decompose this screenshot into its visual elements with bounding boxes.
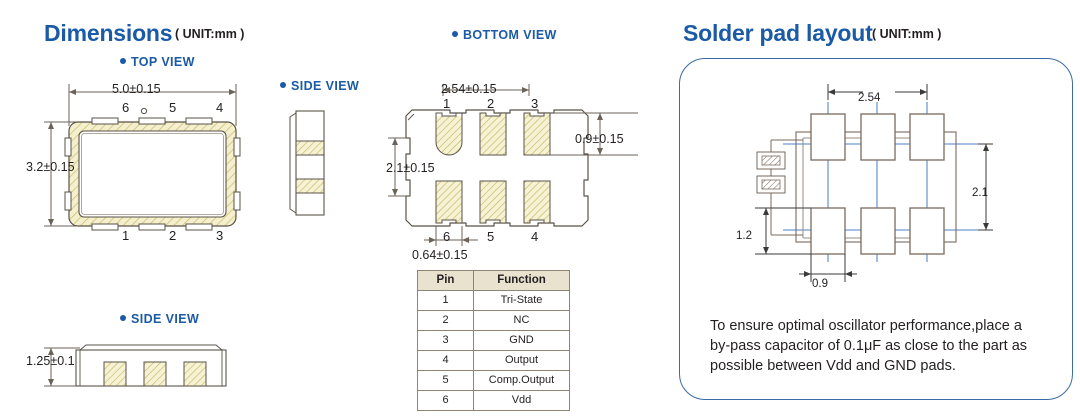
table-row: 6 Vdd <box>418 391 570 411</box>
bottom-view-pin-1: 1 <box>443 96 450 111</box>
table-row: 4 Output <box>418 351 570 371</box>
side-view-right-drawing <box>280 105 340 225</box>
solder-pad-title: Solder pad layout <box>683 20 873 47</box>
cell-function: NC <box>474 311 570 331</box>
table-row: 5 Comp.Output <box>418 371 570 391</box>
solder-span-v-dim: 2.1 <box>972 187 988 199</box>
table-header-row: Pin Function <box>418 271 570 291</box>
bottom-view-pad-width-dim: 0.64±0.15 <box>412 248 468 262</box>
cell-function: Comp.Output <box>474 371 570 391</box>
bottom-view-pin-6: 6 <box>443 229 450 244</box>
bottom-view-height-dim: 2.1±0.15 <box>386 161 435 175</box>
bullet-icon <box>120 315 126 321</box>
side-view-bottom-label: SIDE VIEW <box>120 312 199 326</box>
table-row: 3 GND <box>418 331 570 351</box>
bottom-view-pin-5: 5 <box>487 229 494 244</box>
bottom-view-pitch-dim: 2.54±0.15 <box>441 82 497 96</box>
bottom-view-pin-3: 3 <box>531 96 538 111</box>
bullet-icon <box>280 82 286 88</box>
solder-pad-unit: ( UNIT:mm ) <box>872 27 941 41</box>
side-view-bottom-drawing <box>24 336 274 406</box>
dimensions-unit: ( UNIT:mm ) <box>175 27 244 41</box>
header-pin: Pin <box>418 271 474 291</box>
solder-pad-h-dim: 1.2 <box>736 230 752 242</box>
cell-pin: 1 <box>418 291 474 311</box>
cell-pin: 2 <box>418 311 474 331</box>
cell-function: Vdd <box>474 391 570 411</box>
top-view-pin-4: 4 <box>216 100 223 115</box>
table-row: 2 NC <box>418 311 570 331</box>
side-view-right-label: SIDE VIEW <box>280 79 359 93</box>
solder-pitch-dim: 2.54 <box>858 92 880 104</box>
bottom-view-pin-4: 4 <box>531 229 538 244</box>
header-function: Function <box>474 271 570 291</box>
bullet-icon <box>452 31 458 37</box>
top-view-pin-2: 2 <box>169 228 176 243</box>
side-view-bottom-height-dim: 1.25±0.1 <box>26 354 75 368</box>
top-view-height-dim: 3.2±0.15 <box>26 160 75 174</box>
cell-function: Output <box>474 351 570 371</box>
table-row: 1 Tri-State <box>418 291 570 311</box>
bottom-view-label: BOTTOM VIEW <box>452 28 557 42</box>
cell-pin: 3 <box>418 331 474 351</box>
solder-pad-w-dim: 0.9 <box>812 278 828 290</box>
top-view-pin-5: 5 <box>169 100 176 115</box>
dimensions-title: Dimensions <box>44 20 172 47</box>
bottom-view-pad-height-dim: 0.9±0.15 <box>575 132 624 146</box>
cell-pin: 4 <box>418 351 474 371</box>
cell-pin: 5 <box>418 371 474 391</box>
top-view-width-dim: 5.0±0.15 <box>112 82 161 96</box>
bullet-icon <box>120 58 126 64</box>
solder-pad-note: To ensure optimal oscillator performance… <box>710 316 1040 376</box>
bottom-view-pin-2: 2 <box>487 96 494 111</box>
top-view-pin-3: 3 <box>216 228 223 243</box>
pin-function-table: Pin Function 1 Tri-State 2 NC 3 GND 4 Ou… <box>417 270 570 411</box>
top-view-label: TOP VIEW <box>120 55 195 69</box>
top-view-pin-6: 6 <box>122 100 129 115</box>
bottom-view-drawing <box>388 50 648 255</box>
cell-function: GND <box>474 331 570 351</box>
top-view-pin-1: 1 <box>122 228 129 243</box>
cell-function: Tri-State <box>474 291 570 311</box>
cell-pin: 6 <box>418 391 474 411</box>
